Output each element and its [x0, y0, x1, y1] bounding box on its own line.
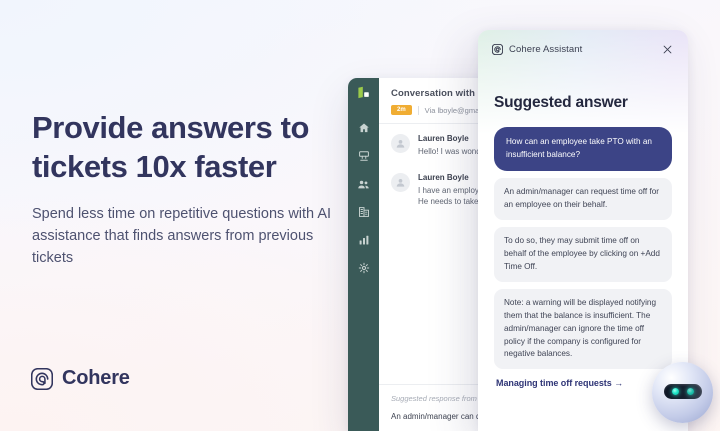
cohere-spiral-icon	[492, 44, 503, 55]
assistant-header: Cohere Assistant	[478, 30, 688, 68]
cohere-wordmark: Cohere	[62, 367, 130, 390]
page-title: Provide answers to tickets 10x faster	[32, 108, 342, 187]
assistant-brand: Cohere Assistant	[492, 44, 660, 55]
robot-visor-icon	[664, 384, 702, 399]
suggested-answer-list: How can an employee take PTO with an ins…	[478, 112, 688, 388]
sidebar-item-reports[interactable]	[351, 227, 377, 253]
robot-eye-right-icon	[687, 388, 694, 395]
user-avatar-icon	[391, 173, 410, 192]
promo-slide: Provide answers to tickets 10x faster Sp…	[0, 0, 720, 431]
sidebar-item-conversations[interactable]	[351, 143, 377, 169]
app-sidebar	[348, 78, 379, 431]
suggested-answer-heading: Suggested answer	[478, 94, 688, 112]
user-avatar-icon	[391, 134, 410, 153]
assistant-title: Cohere Assistant	[509, 44, 582, 55]
cohere-logo: Cohere	[31, 367, 130, 390]
app-logo-icon	[355, 85, 372, 102]
answer-bubble: To do so, they may submit time off on be…	[494, 227, 672, 282]
sidebar-item-companies[interactable]	[351, 199, 377, 225]
sidebar-item-settings[interactable]	[351, 255, 377, 281]
sidebar-item-home[interactable]	[351, 115, 377, 141]
robot-eye-left-icon	[672, 388, 679, 395]
page-subtitle: Spend less time on repetitive questions …	[32, 203, 342, 270]
sidebar-item-contacts[interactable]	[351, 171, 377, 197]
marketing-copy: Provide answers to tickets 10x faster Sp…	[32, 108, 342, 270]
question-bubble: How can an employee take PTO with an ins…	[494, 127, 672, 171]
close-icon[interactable]	[660, 42, 675, 57]
ai-assistant-avatar[interactable]	[652, 362, 713, 423]
status-badge: 2m	[391, 105, 412, 115]
answer-bubble: An admin/manager can request time off fo…	[494, 178, 672, 220]
source-article-link[interactable]: Managing time off requests →	[494, 378, 672, 388]
meta-divider	[418, 106, 419, 115]
cohere-assistant-panel: Cohere Assistant Suggested answer How ca…	[478, 30, 688, 431]
cohere-spiral-icon	[31, 368, 53, 390]
answer-bubble: Note: a warning will be displayed notify…	[494, 289, 672, 370]
